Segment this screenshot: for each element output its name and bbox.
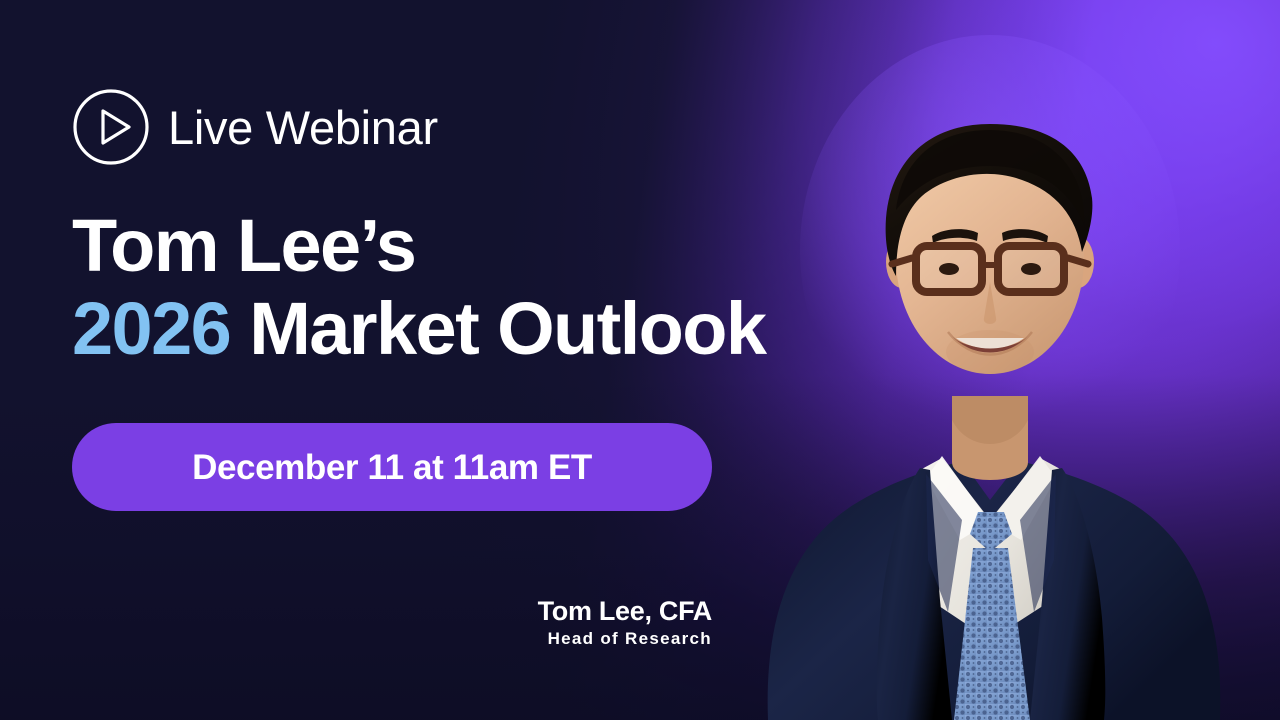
speaker-credit: Tom Lee, CFA Head of Research	[72, 596, 712, 650]
speaker-name: Tom Lee, CFA	[72, 596, 712, 628]
webinar-promo-graphic: Live Webinar Tom Lee’s 2026 Market Outlo…	[0, 0, 1280, 720]
headline-line-2-rest: Market Outlook	[230, 287, 765, 370]
headline-year: 2026	[72, 287, 230, 370]
speaker-role: Head of Research	[72, 628, 712, 650]
play-circle-icon	[72, 88, 150, 166]
webinar-date-label: December 11 at 11am ET	[192, 450, 592, 485]
webinar-date-button[interactable]: December 11 at 11am ET	[72, 423, 712, 511]
headline-line-1: Tom Lee’s	[72, 204, 415, 287]
content-column: Live Webinar Tom Lee’s 2026 Market Outlo…	[72, 0, 892, 720]
eyebrow-label: Live Webinar	[168, 104, 438, 151]
page-title: Tom Lee’s 2026 Market Outlook	[72, 205, 765, 371]
live-webinar-eyebrow: Live Webinar	[72, 88, 438, 166]
